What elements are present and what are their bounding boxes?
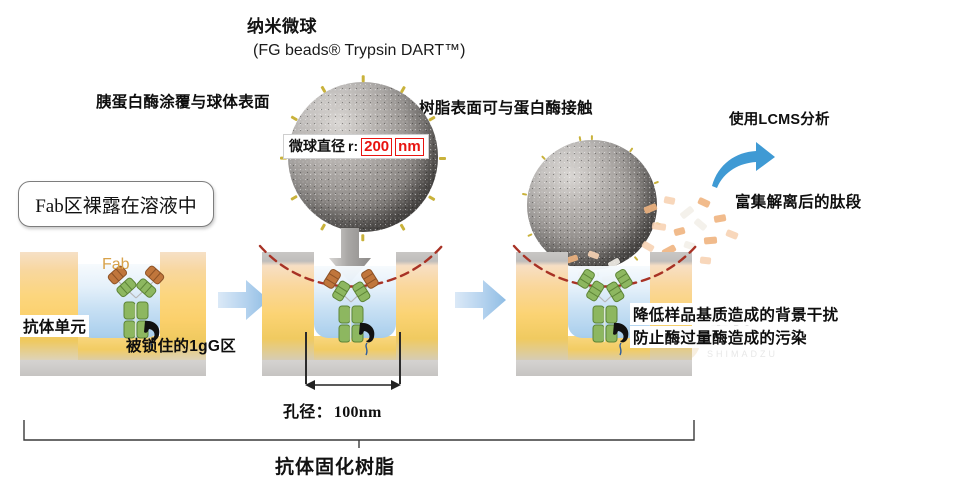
bead-diameter-cn: 微球直径	[289, 136, 345, 156]
bottom-bracket	[22, 418, 698, 448]
resin-base-2	[262, 360, 438, 376]
resin-base-1	[20, 360, 206, 376]
pore-dimension-arrow	[302, 376, 404, 394]
bead-diameter-unit: nm	[395, 138, 424, 156]
locked-igg-hook-icon-2	[355, 320, 381, 356]
lcms-arrow-icon	[708, 140, 778, 190]
step-arrow-2-icon	[455, 277, 507, 323]
bead-diameter-value: 200	[361, 138, 392, 156]
label-locked-igg: 被锁住的1gG区	[126, 334, 236, 356]
label-antibody-unit: 抗体单元	[20, 315, 89, 337]
watermark-en: SHIMADZU	[707, 350, 778, 359]
resin-base-3	[516, 360, 692, 376]
resin-pillar-left-1	[20, 252, 78, 366]
fab-region-tag-1: Fab	[102, 256, 130, 274]
diagram-title-cn: 纳米微球	[247, 12, 317, 37]
label-trypsin-coating: 胰蛋白酶涂覆与球体表面	[96, 90, 270, 112]
diagram-canvas: 岛津 SHIMADZU 纳米微球 (FG beads® Trypsin DART…	[0, 0, 960, 494]
diagram-title-en: (FG beads® Trypsin DART™)	[253, 42, 465, 60]
bottom-caption: 抗体固化树脂	[275, 452, 395, 479]
label-lcms-analysis: 使用LCMS分析	[729, 108, 830, 129]
bead-diameter-label: 微球直径 r: 200 nm	[283, 134, 429, 159]
label-benefit-1: 降低样品基质造成的背景干扰	[630, 303, 841, 325]
fab-exposed-callout: Fab区裸露在溶液中	[18, 181, 214, 227]
label-resin-contact: 树脂表面可与蛋白酶接触	[419, 96, 593, 118]
fab-exposed-text: Fab区裸露在溶液中	[35, 191, 197, 218]
bead-diameter-prefix: r:	[348, 138, 358, 154]
label-benefit-2: 防止酶过量酶造成的污染	[630, 326, 810, 348]
